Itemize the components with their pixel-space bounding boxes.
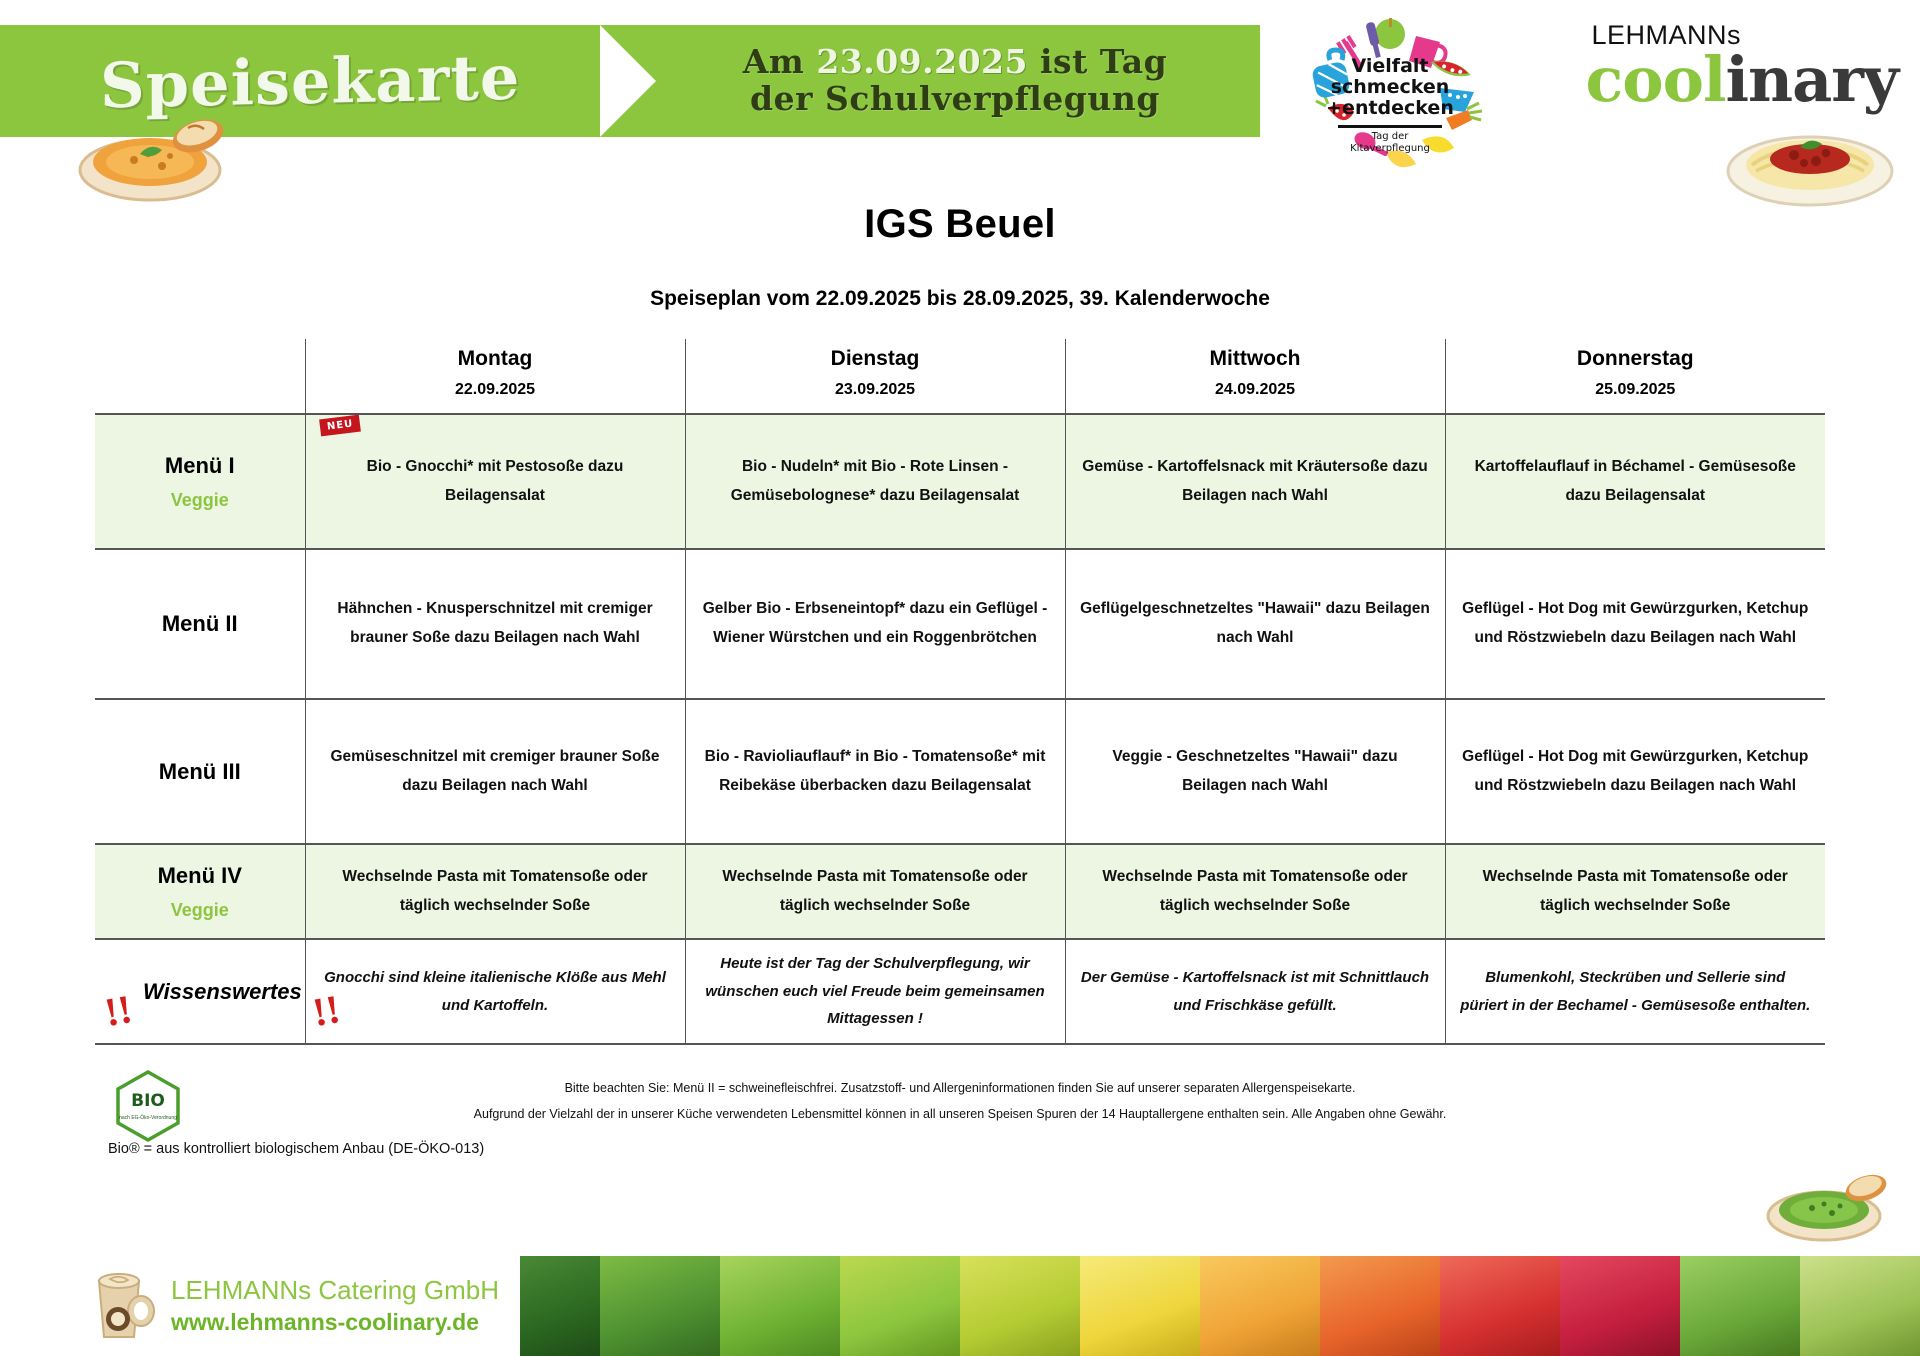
- dish-text: Gelber Bio - Erbseneintopf* dazu ein Gef…: [700, 595, 1051, 652]
- company-website[interactable]: www.lehmanns-coolinary.de: [171, 1308, 499, 1338]
- menu-cell: NEU Bio - Gnocchi* mit Pestosoße dazu Be…: [305, 414, 685, 549]
- menu-cell: Gemüse - Kartoffelsnack mit Kräutersoße …: [1065, 414, 1445, 549]
- menu-table-body: Menü I Veggie NEU Bio - Gnocchi* mit Pes…: [95, 414, 1825, 1044]
- neu-badge: NEU: [319, 414, 361, 436]
- kitaverpflegung-logo-text: Vielfalt schmecken +entdecken: [1290, 56, 1490, 119]
- day-date: 23.09.2025: [700, 381, 1051, 399]
- day-date: 24.09.2025: [1080, 381, 1431, 399]
- exclamation-icon-left: !!: [102, 988, 135, 1032]
- wissenswertes-label-wrap: !! Wissenswertes !!: [109, 979, 336, 1005]
- schulverpflegung-line-1: Am 23.09.2025 ist Tag: [743, 44, 1167, 81]
- allergen-note-2: Aufgrund der Vielzahl der in unserer Küc…: [0, 1107, 1920, 1121]
- day-header-montag: Montag 22.09.2025: [305, 339, 685, 414]
- bio-seal-text: BIO: [112, 1091, 184, 1111]
- day-date: 25.09.2025: [1460, 381, 1812, 399]
- table-row-menu-2: Menü II Hähnchen - Knusperschnitzel mit …: [95, 549, 1825, 699]
- menu-cell: Veggie - Geschnetzeltes "Hawaii" dazu Be…: [1065, 699, 1445, 844]
- menu-cell: Wechselnde Pasta mit Tomatensoße oder tä…: [305, 844, 685, 939]
- page-title: IGS Beuel: [0, 202, 1920, 247]
- kita-line-3: +entdecken: [1290, 98, 1490, 119]
- menu-cell: Geflügel - Hot Dog mit Gewürzgurken, Ket…: [1445, 549, 1825, 699]
- day-name: Donnerstag: [1460, 347, 1812, 371]
- dish-text: Gemüse - Kartoffelsnack mit Kräutersoße …: [1080, 453, 1431, 510]
- day-name: Mittwoch: [1080, 347, 1431, 371]
- strip-swatch: [1680, 1256, 1800, 1356]
- company-name: LEHMANNs Catering GmbH: [171, 1274, 499, 1308]
- info-cell: Der Gemüse - Kartoffelsnack ist mit Schn…: [1065, 939, 1445, 1044]
- dish-text: Geflügel - Hot Dog mit Gewürzgurken, Ket…: [1460, 743, 1812, 800]
- table-row-menu-1: Menü I Veggie NEU Bio - Gnocchi* mit Pes…: [95, 414, 1825, 549]
- row-label-menu-4: Menü IV Veggie: [109, 862, 291, 921]
- allergen-note-1: Bitte beachten Sie: Menü II = schweinefl…: [0, 1081, 1920, 1095]
- bio-seal-logo: BIO nach EG-Öko-Verordnung: [112, 1069, 184, 1143]
- strip-swatch: [1560, 1256, 1680, 1356]
- info-text: Heute ist der Tag der Schulverpflegung, …: [700, 950, 1051, 1033]
- table-row-menu-4: Menü IV Veggie Wechselnde Pasta mit Toma…: [95, 844, 1825, 939]
- row-label-text: Menü IV: [158, 863, 242, 888]
- schulverpflegung-banner: Am 23.09.2025 ist Tag der Schulverpflegu…: [600, 25, 1260, 137]
- footer-company-text: LEHMANNs Catering GmbH www.lehmanns-cool…: [171, 1274, 499, 1338]
- strip-swatch: [1320, 1256, 1440, 1356]
- dish-text: Geflügelgeschnetzeltes "Hawaii" dazu Bei…: [1080, 595, 1431, 652]
- dish-text: Wechselnde Pasta mit Tomatensoße oder tä…: [1460, 863, 1812, 920]
- page-header: Speisekarte Am 23.09.2025 ist Tag der Sc…: [0, 0, 1920, 150]
- dish-text: Geflügel - Hot Dog mit Gewürzgurken, Ket…: [1460, 595, 1812, 652]
- allergen-notes: Bitte beachten Sie: Menü II = schweinefl…: [0, 1067, 1920, 1121]
- row-label-text: Wissenswertes: [143, 979, 302, 1004]
- brand-inary-part: inary: [1726, 43, 1899, 116]
- kitaverpflegung-logo-subtitle: Tag der Kitaverpflegung: [1290, 131, 1490, 154]
- table-row-wissenswertes: !! Wissenswertes !! Gnocchi sind kleine …: [95, 939, 1825, 1044]
- menu-cell: Hähnchen - Knusperschnitzel mit cremiger…: [305, 549, 685, 699]
- dish-text: Veggie - Geschnetzeltes "Hawaii" dazu Be…: [1080, 743, 1431, 800]
- schulverpflegung-line-2: der Schulverpflegung: [750, 81, 1160, 118]
- menu-table: Montag 22.09.2025 Dienstag 23.09.2025 Mi…: [95, 339, 1825, 1045]
- veggie-badge: Veggie: [109, 489, 291, 512]
- info-cell: Heute ist der Tag der Schulverpflegung, …: [685, 939, 1065, 1044]
- kita-logo-divider: [1338, 125, 1442, 128]
- menu-cell: Wechselnde Pasta mit Tomatensoße oder tä…: [685, 844, 1065, 939]
- table-row-menu-3: Menü III Gemüseschnitzel mit cremiger br…: [95, 699, 1825, 844]
- menu-cell: Gelber Bio - Erbseneintopf* dazu ein Gef…: [685, 549, 1065, 699]
- day-header-donnerstag: Donnerstag 25.09.2025: [1445, 339, 1825, 414]
- strip-swatch: [1200, 1256, 1320, 1356]
- strip-swatch: [840, 1256, 960, 1356]
- strip-swatch: [600, 1256, 720, 1356]
- kita-sub-2: Kitaverpflegung: [1290, 143, 1490, 155]
- soup-bowl-icon-bottom: [1762, 1168, 1892, 1244]
- veggie-badge: Veggie: [109, 899, 291, 922]
- banner-notch-divider: [600, 25, 656, 137]
- row-label-cell-menu-3: Menü III: [95, 699, 305, 844]
- row-label-cell-menu-2: Menü II: [95, 549, 305, 699]
- row-label-menu-1: Menü I Veggie: [109, 452, 291, 511]
- logo-apple-icon: [1375, 18, 1405, 49]
- menu-cell: Geflügel - Hot Dog mit Gewürzgurken, Ket…: [1445, 699, 1825, 844]
- menu-cell: Geflügelgeschnetzeltes "Hawaii" dazu Bei…: [1065, 549, 1445, 699]
- day-name: Dienstag: [700, 347, 1051, 371]
- strip-swatch: [1080, 1256, 1200, 1356]
- bio-seal-subtext: nach EG-Öko-Verordnung: [112, 1115, 184, 1121]
- menu-cell: Wechselnde Pasta mit Tomatensoße oder tä…: [1445, 844, 1825, 939]
- brand-cool-part: cool: [1585, 43, 1725, 116]
- strip-swatch: [720, 1256, 840, 1356]
- row-label-text: Menü I: [165, 453, 235, 478]
- info-cell: Gnocchi sind kleine italienische Klöße a…: [305, 939, 685, 1044]
- lehmanns-coolinary-logo: LEHMANNs coolinary: [1585, 20, 1898, 110]
- bio-legend-text: Bio® = aus kontrolliert biologischem Anb…: [108, 1141, 484, 1157]
- soup-bowl-icon: [70, 110, 230, 205]
- kita-line-1: Vielfalt: [1290, 56, 1490, 77]
- brand-coolinary-text: coolinary: [1585, 51, 1898, 110]
- schulverpflegung-date: 23.09.2025: [816, 42, 1028, 81]
- kita-sub-1: Tag der: [1290, 131, 1490, 143]
- info-text: Blumenkohl, Steckrüben und Sellerie sind…: [1460, 964, 1812, 1020]
- menu-table-header: Montag 22.09.2025 Dienstag 23.09.2025 Mi…: [95, 339, 1825, 414]
- strip-swatch: [960, 1256, 1080, 1356]
- dish-text: Hähnchen - Knusperschnitzel mit cremiger…: [320, 595, 671, 652]
- menu-cell: Bio - Nudeln* mit Bio - Rote Linsen - Ge…: [685, 414, 1065, 549]
- kita-line-2: schmecken: [1290, 77, 1490, 98]
- row-label-menu-2: Menü II: [109, 610, 291, 638]
- menu-cell-inner: NEU Bio - Gnocchi* mit Pestosoße dazu Be…: [320, 453, 671, 510]
- menu-cell: Kartoffelauflauf in Béchamel - Gemüsesoß…: [1445, 414, 1825, 549]
- menu-cell: Bio - Ravioliauflauf* in Bio - Tomatenso…: [685, 699, 1065, 844]
- dish-text: Kartoffelauflauf in Béchamel - Gemüsesoß…: [1460, 453, 1812, 510]
- plan-date-range: Speiseplan vom 22.09.2025 bis 28.09.2025…: [0, 287, 1920, 311]
- coffee-cup-icon: [85, 1267, 157, 1345]
- dish-text: Wechselnde Pasta mit Tomatensoße oder tä…: [700, 863, 1051, 920]
- row-label-text: Menü II: [162, 611, 238, 636]
- day-header-mittwoch: Mittwoch 24.09.2025: [1065, 339, 1445, 414]
- footer-company-brand: LEHMANNs Catering GmbH www.lehmanns-cool…: [0, 1256, 520, 1356]
- info-text: Gnocchi sind kleine italienische Klöße a…: [320, 964, 671, 1020]
- info-cell: Blumenkohl, Steckrüben und Sellerie sind…: [1445, 939, 1825, 1044]
- day-date: 22.09.2025: [320, 381, 671, 399]
- day-header-dienstag: Dienstag 23.09.2025: [685, 339, 1065, 414]
- row-label-text: Menü III: [159, 759, 241, 784]
- menu-cell: Wechselnde Pasta mit Tomatensoße oder tä…: [1065, 844, 1445, 939]
- dish-text: Bio - Nudeln* mit Bio - Rote Linsen - Ge…: [700, 453, 1051, 510]
- dish-text: Gemüseschnitzel mit cremiger brauner Soß…: [320, 743, 671, 800]
- strip-swatch: [1800, 1256, 1920, 1356]
- strip-swatch: [1440, 1256, 1560, 1356]
- menu-cell: Gemüseschnitzel mit cremiger brauner Soß…: [305, 699, 685, 844]
- dish-text: Wechselnde Pasta mit Tomatensoße oder tä…: [320, 863, 671, 920]
- footer-notes: BIO nach EG-Öko-Verordnung Bitte beachte…: [0, 1067, 1920, 1159]
- dish-text: Bio - Ravioliauflauf* in Bio - Tomatenso…: [700, 743, 1051, 800]
- row-label-cell-menu-1: Menü I Veggie: [95, 414, 305, 549]
- table-corner-cell: [95, 339, 305, 414]
- row-label-menu-3: Menü III: [109, 758, 291, 786]
- kitaverpflegung-logo: Vielfalt schmecken +entdecken Tag der Ki…: [1290, 12, 1490, 177]
- day-name: Montag: [320, 347, 671, 371]
- row-label-cell-menu-4: Menü IV Veggie: [95, 844, 305, 939]
- dish-text: Bio - Gnocchi* mit Pestosoße dazu Beilag…: [320, 453, 671, 510]
- spaghetti-plate-icon: [1720, 105, 1900, 210]
- info-text: Der Gemüse - Kartoffelsnack ist mit Schn…: [1080, 964, 1431, 1020]
- row-label-cell-wissenswertes: !! Wissenswertes !!: [95, 939, 305, 1044]
- dish-text: Wechselnde Pasta mit Tomatensoße oder tä…: [1080, 863, 1431, 920]
